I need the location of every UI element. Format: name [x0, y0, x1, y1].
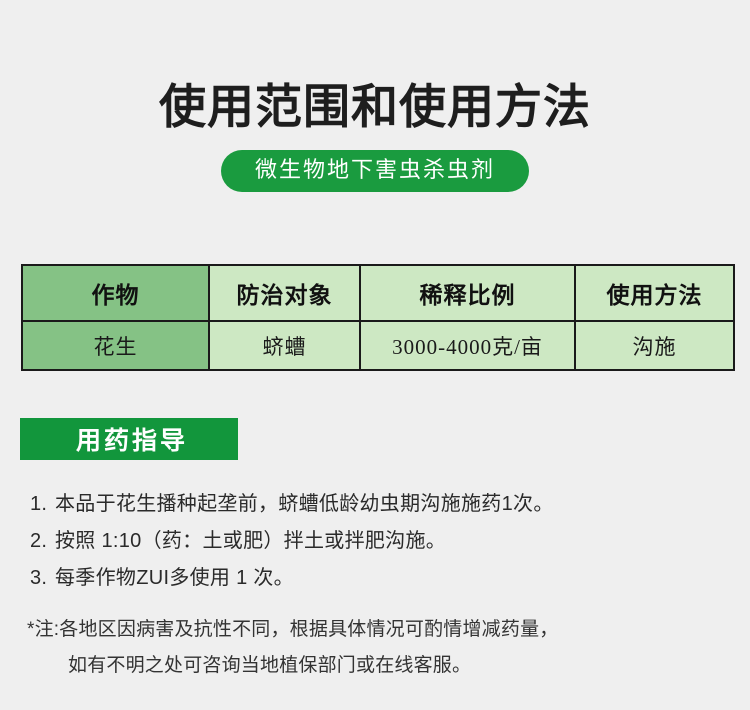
cell-method: 沟施 [575, 321, 734, 370]
instruction-list: 1. 本品于花生播种起垄前，蛴螬低龄幼虫期沟施施药1次。 2. 按照 1:10（… [30, 486, 720, 597]
list-item: 3. 每季作物ZUI多使用 1 次。 [30, 560, 720, 597]
list-item-text: 每季作物ZUI多使用 1 次。 [55, 560, 720, 597]
table-header-crop: 作物 [22, 265, 209, 321]
cell-crop: 花生 [22, 321, 209, 370]
list-item-text: 按照 1:10（药：土或肥）拌土或拌肥沟施。 [55, 523, 720, 560]
footnote-block: *注:各地区因病害及抗性不同，根据具体情况可酌情增减药量， 如有不明之处可咨询当… [27, 612, 727, 684]
table-header-method: 使用方法 [575, 265, 734, 321]
list-item-number: 1. [30, 486, 55, 523]
usage-table: 作物 防治对象 稀释比例 使用方法 花生 蛴螬 3000-4000克/亩 沟施 [21, 264, 735, 371]
list-item-number: 2. [30, 523, 55, 560]
table-header-target: 防治对象 [209, 265, 360, 321]
cell-target: 蛴螬 [209, 321, 360, 370]
list-item: 2. 按照 1:10（药：土或肥）拌土或拌肥沟施。 [30, 523, 720, 560]
guidance-banner: 用药指导 [20, 418, 238, 460]
list-item: 1. 本品于花生播种起垄前，蛴螬低龄幼虫期沟施施药1次。 [30, 486, 720, 523]
page-title: 使用范围和使用方法 [0, 82, 750, 133]
header-block: 使用范围和使用方法 微生物地下害虫杀虫剂 [0, 82, 750, 192]
subtitle-pill-badge: 微生物地下害虫杀虫剂 [221, 150, 529, 192]
product-usage-page: 使用范围和使用方法 微生物地下害虫杀虫剂 作物 防治对象 稀释比例 使用方法 花… [0, 0, 750, 710]
list-item-text: 本品于花生播种起垄前，蛴螬低龄幼虫期沟施施药1次。 [55, 486, 720, 523]
table-header-row: 作物 防治对象 稀释比例 使用方法 [22, 265, 734, 321]
usage-table-body: 花生 蛴螬 3000-4000克/亩 沟施 [22, 321, 734, 370]
cell-dilution: 3000-4000克/亩 [360, 321, 575, 370]
table-row: 花生 蛴螬 3000-4000克/亩 沟施 [22, 321, 734, 370]
list-item-number: 3. [30, 560, 55, 597]
footnote-line-2: 如有不明之处可咨询当地植保部门或在线客服。 [27, 648, 727, 684]
usage-table-head: 作物 防治对象 稀释比例 使用方法 [22, 265, 734, 321]
footnote-line-1: *注:各地区因病害及抗性不同，根据具体情况可酌情增减药量， [27, 612, 727, 648]
table-header-dilution: 稀释比例 [360, 265, 575, 321]
